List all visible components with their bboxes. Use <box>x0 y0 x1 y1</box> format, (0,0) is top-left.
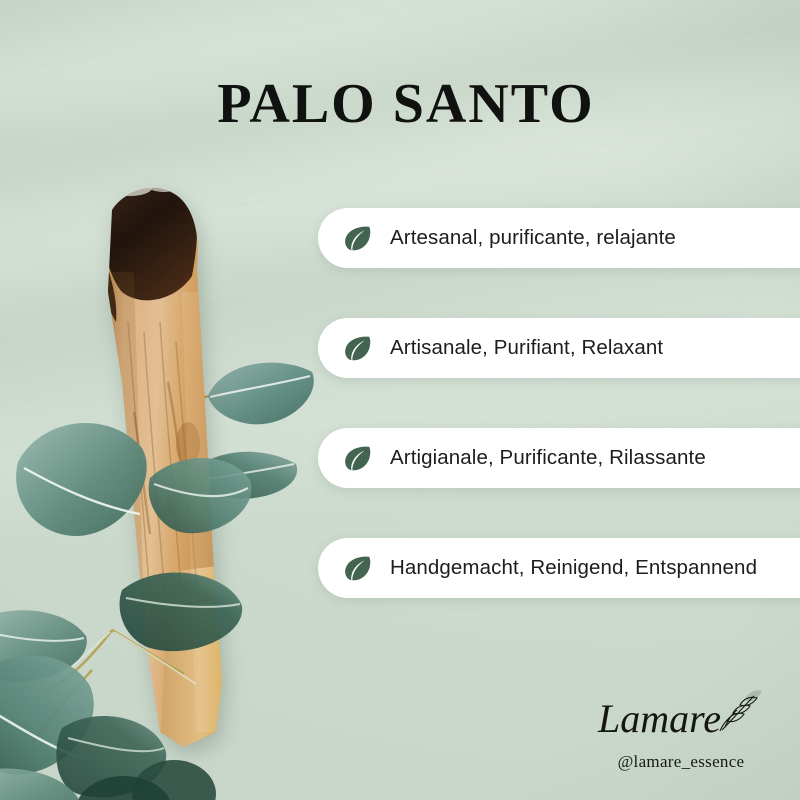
leaf-icon <box>342 553 372 583</box>
leaf-icon <box>342 443 372 473</box>
feature-pill[interactable]: Artisanale, Purifiant, Relaxant <box>318 318 800 378</box>
palo-santo-stick <box>64 172 254 762</box>
feature-pill[interactable]: Handgemacht, Reinigend, Entspannend <box>318 538 800 598</box>
promo-graphic: PALO SANTO <box>0 0 800 800</box>
feature-list: Artesanal, purificante, relajante Artisa… <box>318 208 800 598</box>
brand-wordmark-text: Lamare <box>597 696 721 741</box>
brand-mark[interactable]: Lamare @lamare_essence <box>596 688 766 772</box>
feature-pill[interactable]: Artesanal, purificante, relajante <box>318 208 800 268</box>
feature-pill[interactable]: Artigianale, Purificante, Rilassante <box>318 428 800 488</box>
leaf-icon <box>342 333 372 363</box>
brand-wordmark: Lamare <box>596 688 766 750</box>
feature-label: Handgemacht, Reinigend, Entspannend <box>390 556 757 580</box>
feature-label: Artesanal, purificante, relajante <box>390 226 676 250</box>
feature-label: Artisanale, Purifiant, Relaxant <box>390 336 663 360</box>
olive-branch-icon <box>720 691 761 731</box>
leaf-icon <box>342 223 372 253</box>
page-title: PALO SANTO <box>0 72 800 136</box>
feature-label: Artigianale, Purificante, Rilassante <box>390 446 706 470</box>
brand-handle: @lamare_essence <box>596 752 766 772</box>
